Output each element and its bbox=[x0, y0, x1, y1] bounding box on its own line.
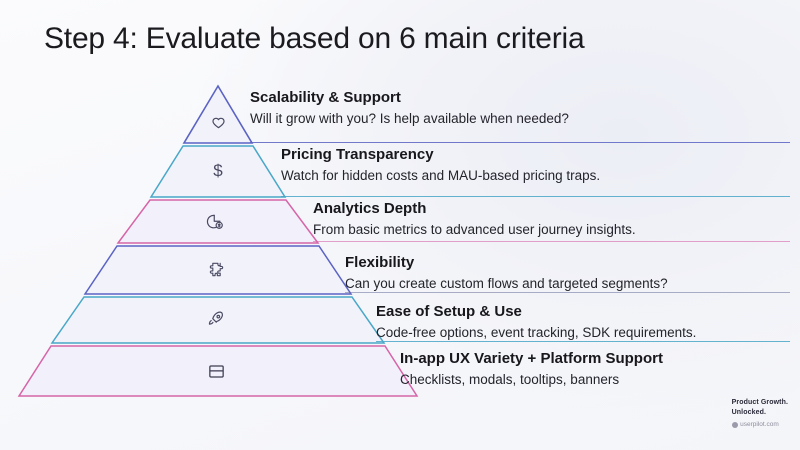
pyramid-diagram: Scalability & Support Will it grow with … bbox=[0, 0, 800, 450]
brand-website-label: userpilot.com bbox=[740, 421, 779, 428]
tier-title: In-app UX Variety + Platform Support bbox=[400, 349, 663, 369]
brand-line-1: Product Growth. bbox=[732, 398, 788, 407]
pyramid-tier-6-text: In-app UX Variety + Platform Support Che… bbox=[400, 349, 663, 389]
brand-footer: Product Growth. Unlocked. userpilot.com bbox=[732, 398, 788, 428]
brand-website: userpilot.com bbox=[732, 421, 788, 428]
globe-icon bbox=[732, 422, 738, 428]
brand-line-2: Unlocked. bbox=[732, 408, 788, 417]
tier-description: Checklists, modals, tooltips, banners bbox=[400, 370, 663, 390]
